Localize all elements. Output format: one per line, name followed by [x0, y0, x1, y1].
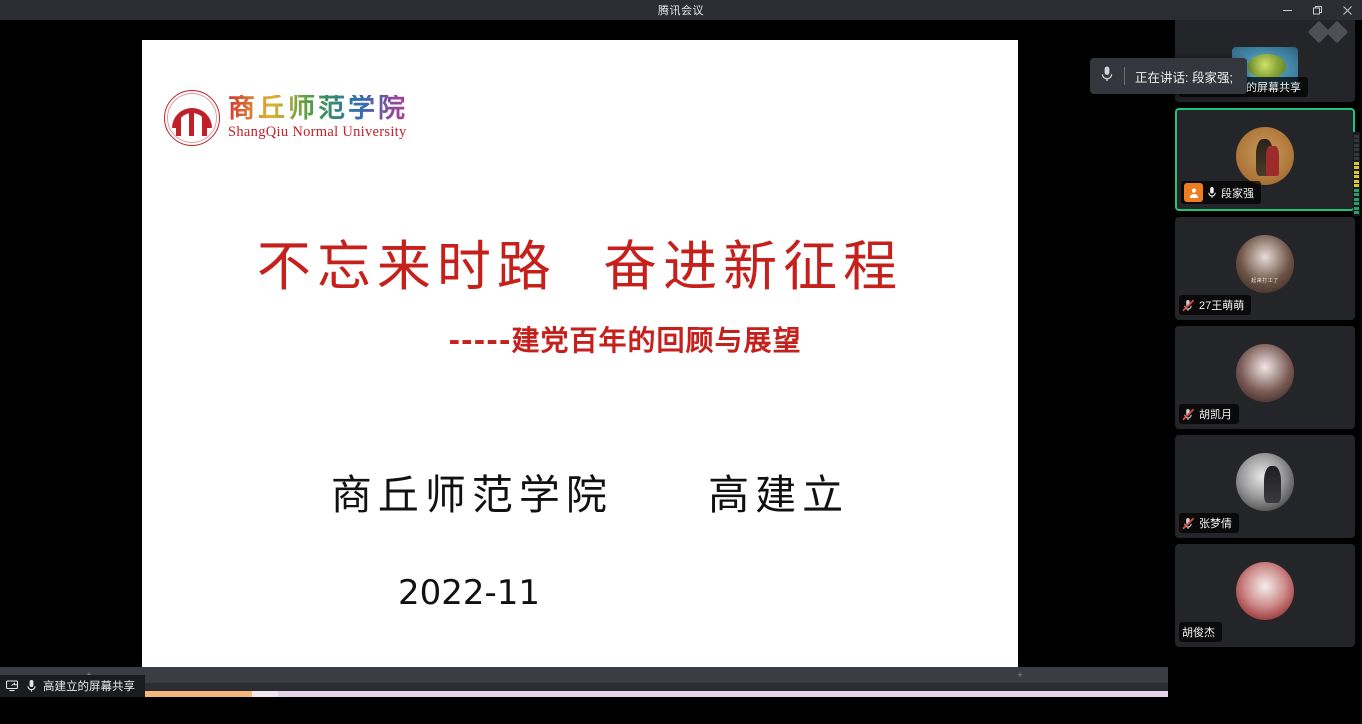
microphone-muted-icon: [1182, 299, 1195, 312]
microphone-muted-icon: [1182, 408, 1195, 421]
university-emblem-icon: [164, 90, 220, 146]
close-button[interactable]: [1332, 0, 1362, 20]
window-title: 腾讯会议: [658, 2, 704, 18]
logo-english-name: ShangQiu Normal University: [228, 124, 408, 141]
tile-label: 胡凯月: [1179, 404, 1239, 424]
screen-share-icon: [6, 680, 20, 692]
slide-author: 商丘师范学院 高建立: [142, 461, 1018, 521]
tile-participant-wangmengmeng[interactable]: 起来打工了 27王萌萌: [1175, 217, 1355, 320]
slide-date: 2022-11: [142, 573, 1018, 613]
resize-handle-right: +: [1016, 671, 1024, 679]
audio-level-meter: [1353, 132, 1360, 216]
avatar: [1236, 344, 1294, 402]
minimize-button[interactable]: [1272, 0, 1302, 20]
tile-name: 胡俊杰: [1182, 624, 1215, 640]
screen-share-label: 高建立的屏幕共享: [43, 678, 135, 694]
tile-participant-hujunjie[interactable]: 胡俊杰: [1175, 544, 1355, 647]
os-taskbar[interactable]: [0, 683, 1168, 697]
restore-button[interactable]: [1302, 0, 1332, 20]
tile-participant-duanjiaqiang[interactable]: 段家强: [1175, 108, 1355, 211]
speaking-toast: 正在讲话: 段家强;: [1090, 58, 1247, 94]
microphone-icon: [1207, 186, 1217, 199]
avatar: [1236, 562, 1294, 620]
screen-share-indicator[interactable]: 高建立的屏幕共享: [0, 675, 145, 697]
tile-name: 胡凯月: [1199, 406, 1232, 422]
tile-participant-hukaiyue[interactable]: 胡凯月: [1175, 326, 1355, 429]
window-title-bar: 腾讯会议: [0, 0, 1362, 20]
microphone-icon: [1100, 65, 1114, 87]
avatar-caption: 起来打工了: [1236, 277, 1294, 284]
tile-label: 张梦倩: [1179, 513, 1239, 533]
logo-chinese-name: 商丘师范学院: [228, 95, 408, 123]
avatar: [1236, 453, 1294, 511]
speaking-toast-text: 正在讲话: 段家强;: [1135, 67, 1233, 86]
slide-subtitle: -----建党百年的回顾与展望: [142, 319, 1018, 359]
microphone-icon: [26, 679, 37, 693]
tile-label: 段家强: [1181, 181, 1261, 204]
shared-screen-stage: 商丘师范学院 ShangQiu Normal University 不忘来时路 …: [0, 20, 1168, 697]
microphone-muted-icon: [1182, 517, 1195, 530]
tile-participant-zhangmengqian[interactable]: 张梦倩: [1175, 435, 1355, 538]
tile-name: 段家强: [1221, 185, 1254, 201]
chevron-watermark-icon: [1311, 24, 1345, 40]
tile-label: 27王萌萌: [1179, 295, 1251, 315]
tile-name: 27王萌萌: [1199, 297, 1244, 313]
toast-divider: [1124, 67, 1125, 85]
tencent-meeting-window: 腾讯会议: [0, 0, 1362, 724]
university-logo: 商丘师范学院 ShangQiu Normal University: [164, 90, 408, 146]
tile-label: 胡俊杰: [1179, 622, 1222, 642]
tile-name: 张梦倩: [1199, 515, 1232, 531]
shared-window-chrome: + +: [0, 667, 1168, 683]
presentation-slide: 商丘师范学院 ShangQiu Normal University 不忘来时路 …: [142, 40, 1018, 697]
avatar: [1236, 127, 1294, 185]
participant-rail[interactable]: 高建立的屏幕共享: [1168, 20, 1362, 724]
host-person-icon: [1184, 183, 1203, 202]
avatar: 起来打工了: [1236, 235, 1294, 293]
window-controls: [1272, 0, 1362, 20]
slide-main-title: 不忘来时路 奋进新征程: [142, 222, 1018, 301]
